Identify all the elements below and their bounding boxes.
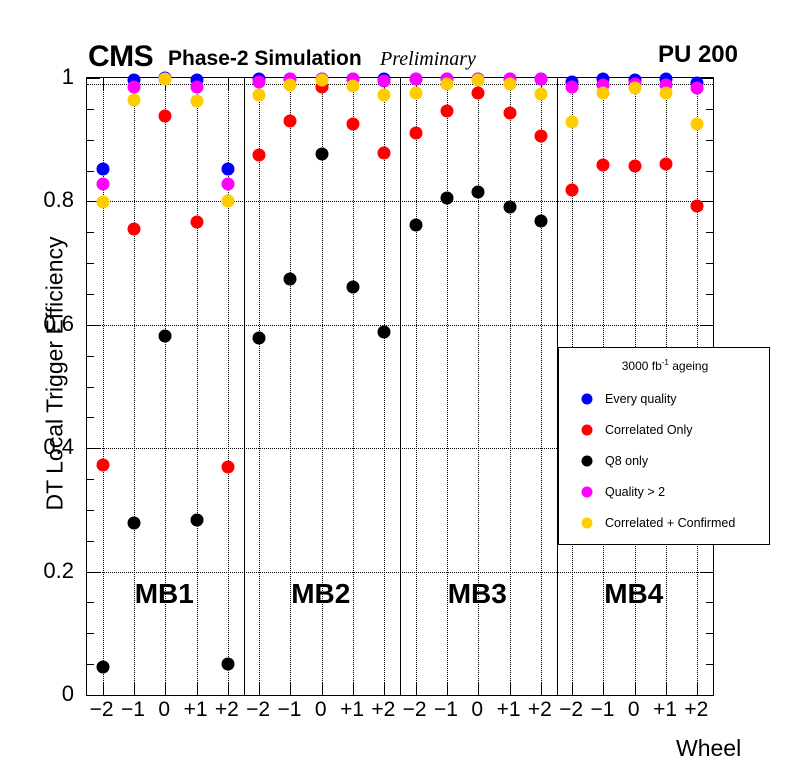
legend-label: Every quality: [605, 392, 677, 406]
data-point: [284, 273, 297, 286]
data-point: [253, 148, 266, 161]
station-divider: [244, 78, 245, 695]
x-tick: [666, 682, 667, 695]
legend-marker-icon: [582, 425, 593, 436]
legend-item: Q8 only: [559, 446, 771, 476]
y-minor-tick: [87, 356, 94, 357]
legend-title: 3000 fb-1 ageing: [559, 358, 771, 373]
data-point: [628, 82, 641, 95]
legend-item: Correlated Only: [559, 415, 771, 445]
legend-title-exponent: -1: [662, 358, 669, 367]
y-major-tick: [700, 695, 713, 696]
data-point: [284, 114, 297, 127]
data-point: [347, 118, 360, 131]
x-tick-label: +1: [340, 699, 364, 720]
data-point: [597, 87, 610, 100]
data-point: [472, 87, 485, 100]
data-point: [127, 223, 140, 236]
y-minor-tick: [706, 171, 713, 172]
y-tick-label: 0.2: [14, 560, 74, 582]
v-gridline: [416, 78, 417, 695]
data-point: [221, 177, 234, 190]
data-point: [127, 516, 140, 529]
data-point: [378, 325, 391, 338]
x-tick-label: 0: [315, 699, 327, 720]
y-minor-tick: [87, 510, 94, 511]
x-tick-label: 0: [628, 699, 640, 720]
plot-header: CMS Phase-2 Simulation Preliminary PU 20…: [0, 0, 796, 70]
data-point: [440, 192, 453, 205]
y-minor-tick: [87, 109, 94, 110]
data-point: [190, 94, 203, 107]
legend-label: Correlated Only: [605, 423, 693, 437]
y-major-tick: [87, 448, 100, 449]
station-label-mb3: MB3: [448, 580, 507, 608]
data-point: [347, 80, 360, 93]
data-point: [96, 660, 109, 673]
legend-marker-icon: [582, 518, 593, 529]
x-tick-top: [103, 78, 104, 91]
v-gridline: [259, 78, 260, 695]
y-minor-tick: [87, 387, 94, 388]
y-major-tick: [87, 78, 100, 79]
data-point: [284, 78, 297, 91]
preliminary-label: Preliminary: [380, 49, 476, 69]
x-tick: [134, 682, 135, 695]
data-point: [96, 196, 109, 209]
data-point: [315, 147, 328, 160]
x-tick-label: −2: [559, 699, 583, 720]
y-axis-title: DT Local Trigger Efficiency: [42, 64, 69, 684]
y-minor-tick: [706, 294, 713, 295]
x-tick-label: +2: [371, 699, 395, 720]
data-point: [347, 281, 360, 294]
x-tick: [478, 682, 479, 695]
data-point: [159, 110, 172, 123]
data-point: [440, 104, 453, 117]
x-tick: [416, 682, 417, 695]
legend-title-tail: ageing: [669, 359, 708, 373]
data-point: [691, 118, 704, 131]
legend-marker-icon: [582, 487, 593, 498]
legend-marker-icon: [582, 394, 593, 405]
cms-logo-text: CMS: [88, 42, 153, 72]
legend-label: Q8 only: [605, 454, 648, 468]
y-tick-label: 0: [14, 683, 74, 705]
y-major-tick: [87, 695, 100, 696]
simulation-subtitle: Phase-2 Simulation: [168, 48, 362, 69]
x-tick-label: −1: [121, 699, 145, 720]
v-gridline: [541, 78, 542, 695]
x-tick-label: +2: [528, 699, 552, 720]
legend-label: Correlated + Confirmed: [605, 516, 735, 530]
y-minor-tick: [87, 541, 94, 542]
x-tick: [197, 682, 198, 695]
data-point: [190, 514, 203, 527]
x-tick-label: −1: [277, 699, 301, 720]
legend-item: Correlated + Confirmed: [559, 508, 771, 538]
data-point: [691, 199, 704, 212]
data-point: [127, 94, 140, 107]
y-minor-tick: [706, 109, 713, 110]
legend-box: 3000 fb-1 ageing Every qualityCorrelated…: [558, 347, 770, 545]
x-tick: [322, 682, 323, 695]
data-point: [378, 147, 391, 160]
data-point: [503, 106, 516, 119]
data-point: [96, 459, 109, 472]
y-minor-tick: [87, 602, 94, 603]
x-tick-label: +1: [184, 699, 208, 720]
y-minor-tick: [87, 263, 94, 264]
data-point: [597, 158, 610, 171]
y-tick-label: 0.4: [14, 436, 74, 458]
data-point: [660, 86, 673, 99]
x-tick-label: −1: [590, 699, 614, 720]
y-tick-label: 0.8: [14, 189, 74, 211]
x-tick: [228, 682, 229, 695]
data-point: [378, 75, 391, 88]
y-major-tick: [700, 572, 713, 573]
data-point: [190, 216, 203, 229]
data-point: [253, 89, 266, 102]
legend-title-main: 3000 fb: [622, 359, 662, 373]
data-point: [127, 81, 140, 94]
y-major-tick: [87, 325, 100, 326]
y-minor-tick: [87, 232, 94, 233]
data-point: [159, 329, 172, 342]
legend-item: Quality > 2: [559, 477, 771, 507]
data-point: [409, 73, 422, 86]
data-point: [534, 214, 547, 227]
data-point: [159, 72, 172, 85]
data-point: [253, 332, 266, 345]
x-tick: [165, 682, 166, 695]
station-label-mb4: MB4: [604, 580, 663, 608]
x-tick: [384, 682, 385, 695]
legend-marker-icon: [582, 456, 593, 467]
data-point: [628, 159, 641, 172]
x-tick-label: −2: [246, 699, 270, 720]
data-point: [534, 88, 547, 101]
data-point: [378, 88, 391, 101]
station-label-mb1: MB1: [135, 580, 194, 608]
y-minor-tick: [706, 664, 713, 665]
y-minor-tick: [706, 263, 713, 264]
data-point: [221, 195, 234, 208]
v-gridline: [510, 78, 511, 695]
data-point: [409, 126, 422, 139]
x-axis-title: Wheel: [676, 735, 741, 762]
y-tick-label: 0.6: [14, 313, 74, 335]
x-tick-label: 0: [158, 699, 170, 720]
data-point: [566, 115, 579, 128]
x-tick-label: +2: [215, 699, 239, 720]
v-gridline: [353, 78, 354, 695]
y-major-tick: [87, 572, 100, 573]
data-point: [503, 200, 516, 213]
data-point: [190, 81, 203, 94]
data-point: [472, 74, 485, 87]
x-tick: [447, 682, 448, 695]
y-minor-tick: [706, 232, 713, 233]
data-point: [440, 78, 453, 91]
data-point: [660, 157, 673, 170]
data-point: [221, 460, 234, 473]
v-gridline: [197, 78, 198, 695]
data-point: [472, 185, 485, 198]
x-tick: [103, 682, 104, 695]
x-tick: [697, 682, 698, 695]
x-tick: [510, 682, 511, 695]
data-point: [409, 87, 422, 100]
x-tick-label: 0: [471, 699, 483, 720]
pileup-label: PU 200: [658, 43, 738, 67]
data-point: [566, 81, 579, 94]
x-tick: [353, 682, 354, 695]
data-point: [534, 129, 547, 142]
x-tick: [603, 682, 604, 695]
x-tick-top: [228, 78, 229, 91]
x-tick: [572, 682, 573, 695]
x-tick-label: +2: [684, 699, 708, 720]
station-divider: [400, 78, 401, 695]
y-tick-label: 1: [14, 66, 74, 88]
data-point: [566, 184, 579, 197]
data-point: [503, 78, 516, 91]
data-point: [96, 178, 109, 191]
y-major-tick: [700, 325, 713, 326]
x-tick-label: +1: [497, 699, 521, 720]
y-minor-tick: [706, 602, 713, 603]
y-minor-tick: [87, 294, 94, 295]
y-minor-tick: [87, 633, 94, 634]
data-point: [534, 73, 547, 86]
data-point: [409, 219, 422, 232]
y-minor-tick: [87, 140, 94, 141]
y-minor-tick: [706, 140, 713, 141]
x-tick: [635, 682, 636, 695]
y-minor-tick: [87, 171, 94, 172]
x-tick: [541, 682, 542, 695]
data-point: [691, 81, 704, 94]
plot-page: CMS Phase-2 Simulation Preliminary PU 20…: [0, 0, 796, 772]
x-tick-label: +1: [653, 699, 677, 720]
x-tick: [259, 682, 260, 695]
x-tick-label: −2: [90, 699, 114, 720]
data-point: [96, 163, 109, 176]
y-minor-tick: [706, 633, 713, 634]
x-tick: [290, 682, 291, 695]
y-minor-tick: [87, 664, 94, 665]
y-minor-tick: [87, 479, 94, 480]
data-point: [221, 658, 234, 671]
legend-label: Quality > 2: [605, 485, 665, 499]
data-point: [315, 73, 328, 86]
y-minor-tick: [87, 417, 94, 418]
x-tick-label: −1: [434, 699, 458, 720]
station-label-mb2: MB2: [291, 580, 350, 608]
legend-item: Every quality: [559, 384, 771, 414]
data-point: [253, 76, 266, 89]
v-gridline: [384, 78, 385, 695]
x-tick-label: −2: [403, 699, 427, 720]
data-point: [221, 162, 234, 175]
